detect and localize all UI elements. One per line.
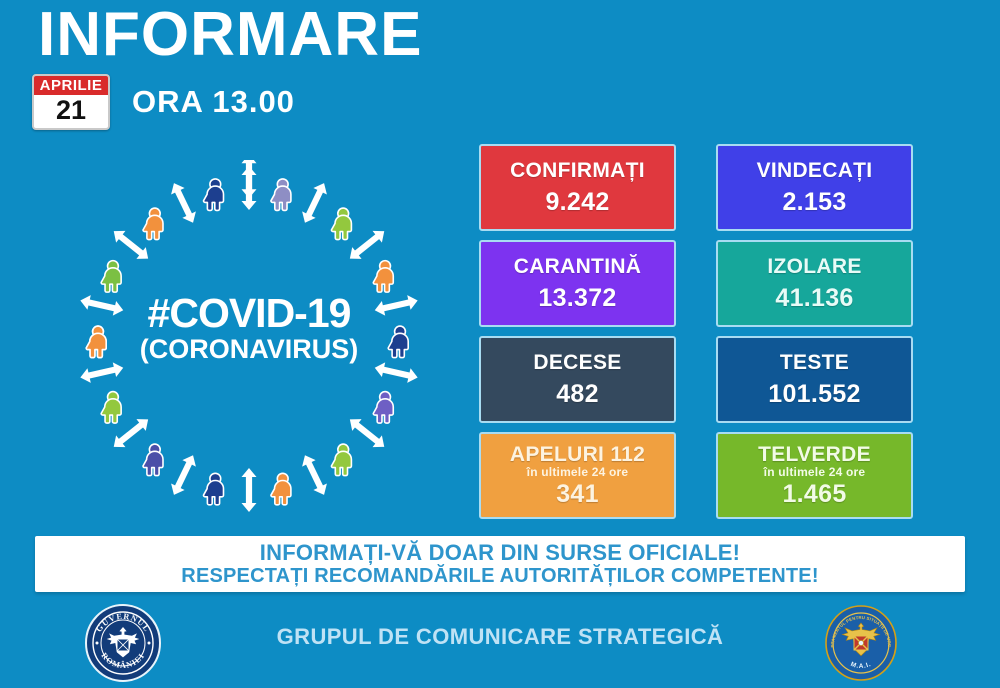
stat-value: 101.552 <box>768 381 860 407</box>
stat-sublabel: în ultimele 24 ore <box>527 466 629 479</box>
stat-card-confirmati: CONFIRMAȚI 9.242 <box>479 144 676 231</box>
person-icon <box>203 179 223 211</box>
stat-label: VINDECAȚI <box>757 160 873 182</box>
stat-label: IZOLARE <box>767 256 861 278</box>
covid-circle-graphic: #COVID-19 (CORONAVIRUS) <box>34 160 464 518</box>
hour-label: ORA 13.00 <box>132 84 295 120</box>
stat-label: APELURI 112 <box>510 444 645 466</box>
person-icon <box>101 261 121 293</box>
person-icon <box>143 208 163 240</box>
covid-hashtag: #COVID-19 <box>34 292 464 335</box>
stat-sublabel: în ultimele 24 ore <box>764 466 866 479</box>
stat-label: DECESE <box>533 352 621 374</box>
stat-card-decese: DECESE 482 <box>479 336 676 423</box>
stat-value: 9.242 <box>545 189 609 215</box>
person-icon <box>271 179 291 211</box>
calendar-month: APRILIE <box>34 76 108 95</box>
stat-card-apeluri-112: APELURI 112 în ultimele 24 ore 341 <box>479 432 676 519</box>
covid-subtitle: (CORONAVIRUS) <box>34 335 464 365</box>
stat-card-teste: TESTE 101.552 <box>716 336 913 423</box>
stat-label: CONFIRMAȚI <box>510 160 645 182</box>
stat-value: 13.372 <box>538 285 616 311</box>
stat-label: TESTE <box>780 352 849 374</box>
stat-card-carantina: CARANTINĂ 13.372 <box>479 240 676 327</box>
person-icon <box>271 473 291 505</box>
advisory-line-1: INFORMAȚI-VĂ DOAR DIN SURSE OFICIALE! <box>260 540 740 565</box>
stat-value: 41.136 <box>775 285 853 311</box>
stat-label: TELVERDE <box>758 444 871 466</box>
header: INFORMARE APRILIE 21 ORA 13.00 <box>0 0 1000 135</box>
footer: GUVERNUL ROMÂNIEI GRUPUL DE COMUNICARE S… <box>0 598 1000 688</box>
page-title: INFORMARE <box>38 4 422 66</box>
person-icon <box>373 392 393 424</box>
person-icon <box>101 392 121 424</box>
dsu-mai-seal-icon: DEPARTAMENTUL PENTRU SITUAȚII DE URGENȚĂ… <box>822 603 900 683</box>
person-icon <box>143 444 163 476</box>
person-icon <box>331 444 351 476</box>
stat-value: 1.465 <box>782 481 846 507</box>
statistics-grid: CONFIRMAȚI 9.242 VINDECAȚI 2.153 CARANTI… <box>479 144 913 520</box>
stat-card-izolare: IZOLARE 41.136 <box>716 240 913 327</box>
calendar-icon: APRILIE 21 <box>32 74 110 130</box>
stat-card-telverde: TELVERDE în ultimele 24 ore 1.465 <box>716 432 913 519</box>
advisory-line-2: RESPECTAȚI RECOMANDĂRILE AUTORITĂȚILOR C… <box>181 565 818 588</box>
date-row: APRILIE 21 ORA 13.00 <box>32 74 295 130</box>
person-icon <box>203 473 223 505</box>
stat-value: 2.153 <box>782 189 846 215</box>
person-icon <box>331 208 351 240</box>
calendar-day: 21 <box>34 95 108 128</box>
advisory-banner: INFORMAȚI-VĂ DOAR DIN SURSE OFICIALE! RE… <box>35 536 965 592</box>
stat-value: 482 <box>556 381 599 407</box>
person-icon <box>373 261 393 293</box>
stat-value: 341 <box>556 481 599 507</box>
stat-label: CARANTINĂ <box>514 256 642 278</box>
covid-center-text: #COVID-19 (CORONAVIRUS) <box>34 292 464 365</box>
stat-card-vindecati: VINDECAȚI 2.153 <box>716 144 913 231</box>
